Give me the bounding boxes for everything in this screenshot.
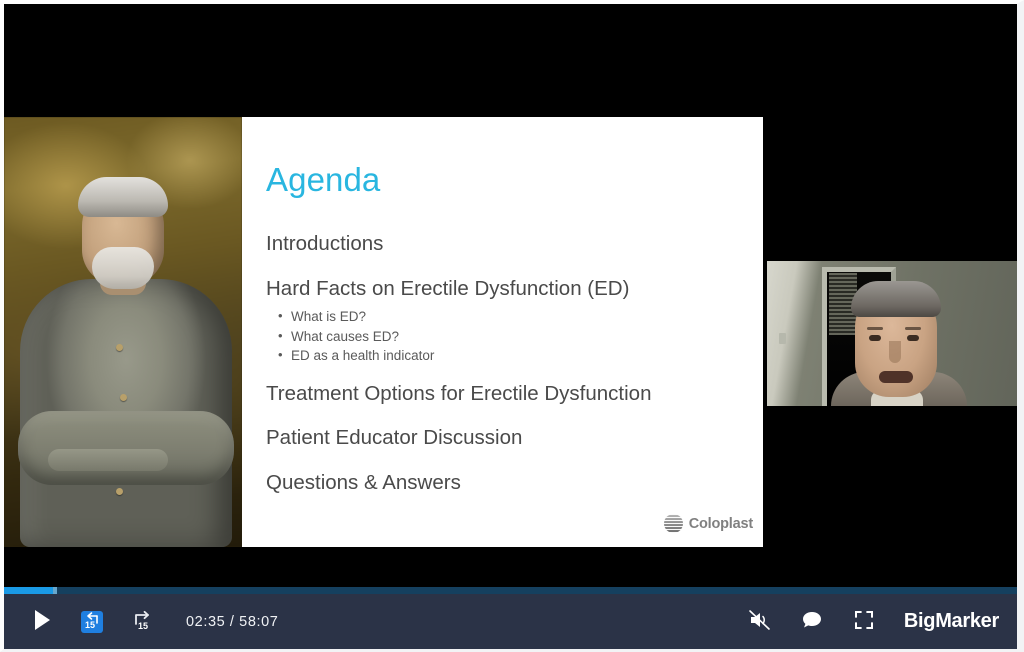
progress-scrubber-handle[interactable] (53, 587, 57, 594)
video-player: Agenda Introductions Hard Facts on Erect… (0, 0, 1024, 652)
chat-button[interactable] (790, 602, 834, 642)
slide-title: Agenda (266, 163, 763, 196)
slide-photo-button (116, 344, 123, 351)
slide-photo-button (116, 488, 123, 495)
agenda-subitem: What is ED? (278, 307, 763, 327)
slide-photo-arm-fold (48, 449, 168, 471)
presenter-webcam-tile[interactable] (767, 261, 1017, 406)
webcam-hair (851, 281, 941, 317)
agenda-subitem: What causes ED? (278, 327, 763, 347)
bigmarker-logo-text: BigMarker (904, 610, 999, 633)
agenda-item-treatment-options: Treatment Options for Erectile Dysfuncti… (266, 384, 763, 405)
fullscreen-button[interactable] (842, 602, 886, 642)
agenda-sublist-hard-facts: What is ED? What causes ED? ED as a heal… (266, 307, 763, 366)
play-button[interactable] (20, 602, 64, 642)
slide-photo (4, 117, 242, 547)
progress-bar[interactable] (4, 587, 1017, 594)
rewind-15-icon: 15 (79, 610, 105, 634)
slide-photo-button (120, 394, 127, 401)
mute-button[interactable] (738, 602, 782, 642)
coloplast-logo-text: Coloplast (689, 516, 753, 532)
webcam-eye (907, 335, 919, 341)
webcam-eyebrow (867, 327, 883, 330)
agenda-item-introductions: Introductions (266, 234, 763, 255)
agenda-subitem: ED as a health indicator (278, 346, 763, 366)
rewind-15-button[interactable]: 15 (70, 602, 114, 642)
play-icon (32, 609, 52, 634)
slide-photo-arms (18, 411, 234, 485)
webcam-nose (889, 341, 901, 363)
shared-slide: Agenda Introductions Hard Facts on Erect… (4, 117, 763, 547)
video-stage[interactable]: Agenda Introductions Hard Facts on Erect… (4, 4, 1017, 594)
coloplast-sphere-icon (664, 514, 683, 533)
controls-left-group: 15 15 02:35 / 58:07 (4, 602, 278, 642)
forward-15-button[interactable]: 15 (120, 602, 164, 642)
slide-content: Agenda Introductions Hard Facts on Erect… (242, 117, 763, 547)
controls-right-group: BigMarker (738, 602, 1017, 642)
progress-played (4, 587, 55, 594)
slide-photo-hair (78, 177, 168, 217)
forward-15-icon: 15 (129, 610, 155, 634)
coloplast-logo: Coloplast (664, 514, 753, 533)
agenda-item-hard-facts: Hard Facts on Erectile Dysfunction (ED) (266, 279, 763, 300)
volume-muted-icon (748, 609, 772, 634)
webcam-eyebrow (905, 327, 921, 330)
fullscreen-icon (854, 610, 874, 633)
webcam-light-switch (779, 333, 786, 344)
agenda-item-questions-answers: Questions & Answers (266, 473, 763, 494)
chat-bubble-icon (801, 610, 823, 633)
slide-photo-beard (92, 247, 154, 289)
progress-buffered (4, 587, 1017, 594)
webcam-mouth (879, 371, 913, 383)
player-control-bar: 15 15 02:35 / 58:07 (4, 594, 1017, 649)
agenda-item-patient-educator: Patient Educator Discussion (266, 428, 763, 449)
time-display: 02:35 / 58:07 (186, 614, 278, 630)
webcam-eye (869, 335, 881, 341)
